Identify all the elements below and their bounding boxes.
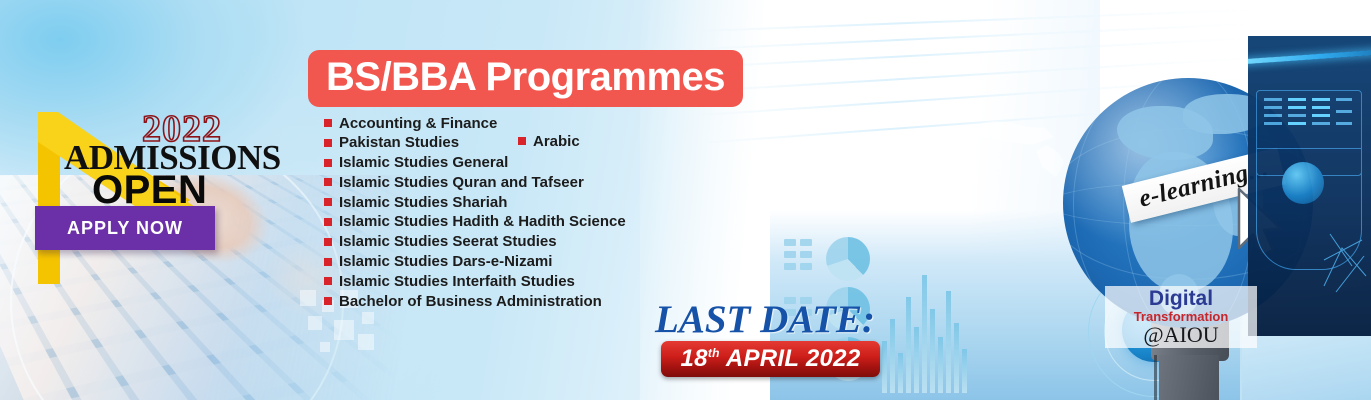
- programme-row: Islamic Studies General: [324, 154, 754, 174]
- programme-label: Islamic Studies Seerat Studies: [339, 234, 557, 249]
- bullet-square-icon: [324, 277, 332, 285]
- deadline-date: 18th APRIL 2022: [681, 345, 861, 373]
- programme-row: Islamic Studies Dars-e-Nizami: [324, 253, 754, 273]
- digital-transformation-logo: Digital Transformation @AIOU: [1105, 286, 1257, 348]
- bullet-square-icon: [324, 258, 332, 266]
- programmes-title: BS/BBA Programmes: [326, 55, 725, 99]
- bullet-square-icon: [324, 139, 332, 147]
- programme-label: Islamic Studies Hadith & Hadith Science: [339, 214, 626, 229]
- bullet-square-icon: [518, 137, 526, 145]
- programme-item[interactable]: Islamic Studies Seerat Studies: [324, 234, 557, 249]
- programme-row: Islamic Studies Seerat Studies: [324, 233, 754, 253]
- bullet-square-icon: [324, 159, 332, 167]
- programme-item[interactable]: Bachelor of Business Administration: [324, 294, 602, 309]
- programme-item[interactable]: Islamic Studies Shariah: [324, 195, 507, 210]
- programme-row: Pakistan StudiesArabic: [324, 134, 754, 154]
- programme-row: Islamic Studies Hadith & Hadith Science: [324, 213, 754, 233]
- programme-item[interactable]: Pakistan Studies: [324, 135, 459, 150]
- bullet-square-icon: [324, 119, 332, 127]
- admissions-banner: 2022 ADMISSIONS OPEN APPLY NOW BS/BBA Pr…: [0, 0, 1371, 400]
- admissions-subhead: OPEN: [92, 170, 207, 210]
- logo-line-digital: Digital: [1149, 288, 1213, 309]
- programmes-title-banner: BS/BBA Programmes: [308, 50, 743, 107]
- programme-label: Bachelor of Business Administration: [339, 294, 602, 309]
- programme-label: Islamic Studies Interfaith Studies: [339, 274, 575, 289]
- programme-row: Islamic Studies Shariah: [324, 193, 754, 213]
- bullet-square-icon: [324, 178, 332, 186]
- programme-item[interactable]: Islamic Studies Hadith & Hadith Science: [324, 214, 626, 229]
- programme-row: Islamic Studies Interfaith Studies: [324, 272, 754, 292]
- programme-label: Accounting & Finance: [339, 116, 497, 131]
- pie-chart-1: [826, 237, 870, 281]
- bar-chart: [882, 243, 974, 393]
- deadline-banner: 18th APRIL 2022: [661, 341, 880, 377]
- programme-item[interactable]: Islamic Studies General: [324, 155, 508, 170]
- programme-item[interactable]: Islamic Studies Interfaith Studies: [324, 274, 575, 289]
- programmes-list: Accounting & FinancePakistan StudiesArab…: [324, 114, 754, 312]
- programme-item[interactable]: Accounting & Finance: [324, 116, 497, 131]
- programme-item[interactable]: Islamic Studies Dars-e-Nizami: [324, 254, 552, 269]
- programme-row: Islamic Studies Quran and Tafseer: [324, 173, 754, 193]
- programme-item[interactable]: Arabic: [518, 134, 580, 149]
- programme-row: Accounting & Finance: [324, 114, 754, 134]
- apply-now-label: APPLY NOW: [67, 218, 183, 239]
- bullet-square-icon: [324, 238, 332, 246]
- bullet-square-icon: [324, 297, 332, 305]
- programme-label: Arabic: [533, 134, 580, 149]
- programme-label: Islamic Studies Quran and Tafseer: [339, 175, 584, 190]
- last-date-label: LAST DATE:: [655, 300, 875, 339]
- programme-item[interactable]: Islamic Studies Quran and Tafseer: [324, 175, 584, 190]
- programme-label: Islamic Studies General: [339, 155, 508, 170]
- programme-label: Pakistan Studies: [339, 135, 459, 150]
- programme-label: Islamic Studies Shariah: [339, 195, 507, 210]
- programme-label: Islamic Studies Dars-e-Nizami: [339, 254, 552, 269]
- apply-now-button[interactable]: APPLY NOW: [35, 206, 215, 250]
- bullet-square-icon: [324, 218, 332, 226]
- logo-line-aiou: @AIOU: [1143, 324, 1218, 346]
- hud-panel-strip: [1248, 36, 1371, 336]
- bullet-square-icon: [324, 198, 332, 206]
